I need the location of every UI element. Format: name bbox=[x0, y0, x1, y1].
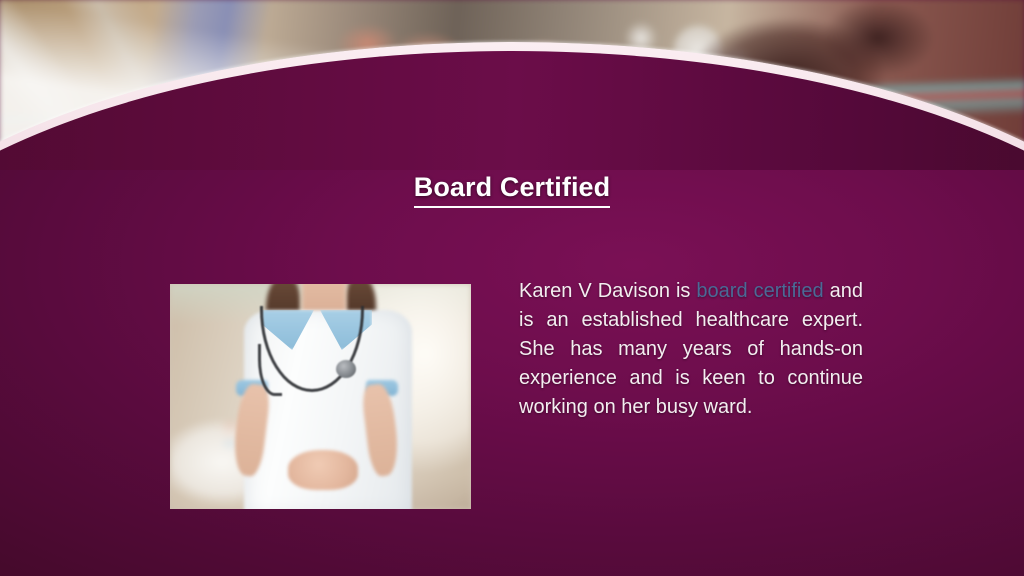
body-paragraph: Karen V Davison is board certified and i… bbox=[519, 277, 863, 422]
nurse-with-stethoscope-photo bbox=[170, 284, 471, 509]
photo-vignette bbox=[170, 284, 471, 509]
page-title-text: Board Certified bbox=[414, 172, 611, 208]
paragraph-lead: Karen V Davison is bbox=[519, 280, 696, 302]
paragraph-highlight: board certified bbox=[696, 280, 823, 302]
slide-canvas: Board Certified Karen V Davison is board… bbox=[0, 0, 1024, 576]
page-title: Board Certified bbox=[0, 172, 1024, 208]
nicu-incubator-hands-photo bbox=[0, 0, 1024, 170]
banner-image-region bbox=[0, 0, 1024, 170]
